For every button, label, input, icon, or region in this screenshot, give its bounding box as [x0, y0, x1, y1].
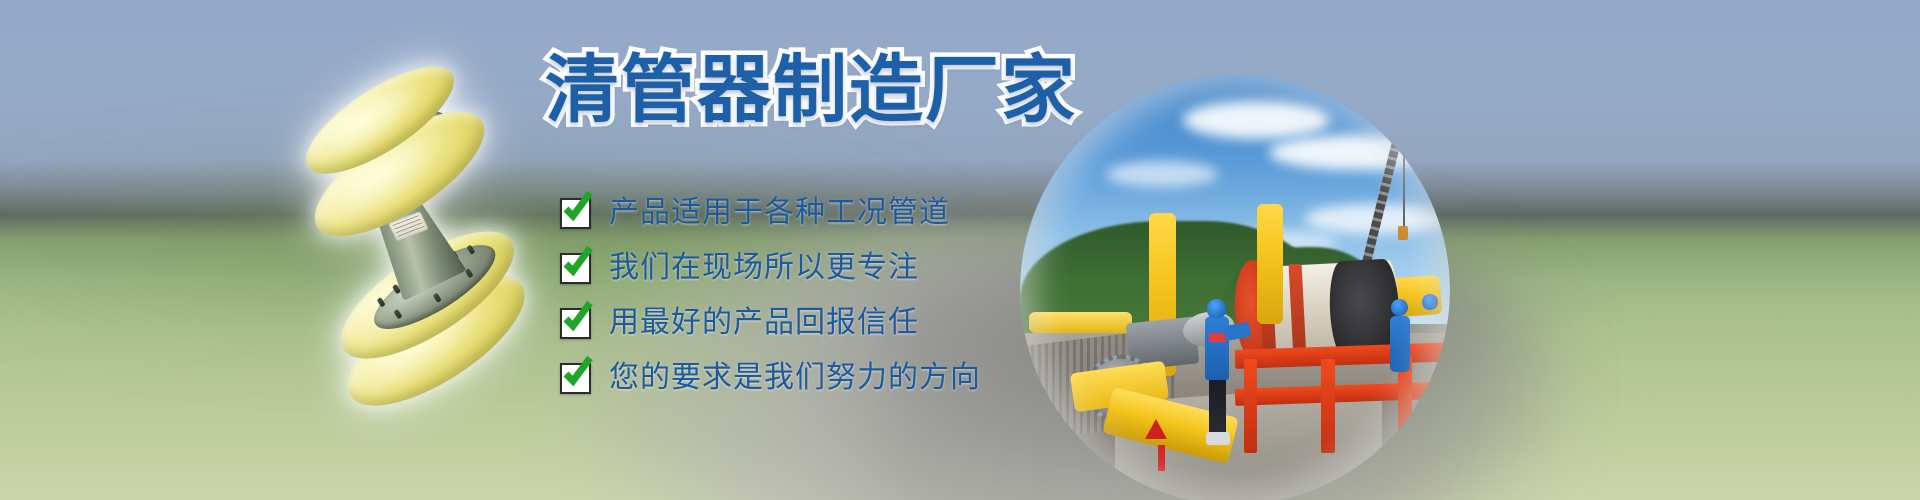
photo-soft-edge — [1020, 75, 1450, 500]
pipeline-station-photo — [1020, 75, 1450, 500]
list-item-label: 我们在现场所以更专注 — [609, 251, 919, 285]
list-item: 用最好的产品回报信任 — [560, 306, 981, 340]
list-item-label: 产品适用于各种工况管道 — [609, 196, 950, 230]
page-title: 清管器制造厂家 — [545, 48, 1077, 132]
feature-list: 产品适用于各种工况管道 我们在现场所以更专注 用最好的产品回报信任 — [560, 196, 981, 395]
check-icon — [560, 253, 591, 284]
list-item-label: 您的要求是我们努力的方向 — [609, 361, 981, 395]
pipeline-pig-product-photo — [250, 55, 550, 395]
list-item: 您的要求是我们努力的方向 — [560, 361, 981, 395]
check-icon — [560, 198, 591, 229]
list-item: 我们在现场所以更专注 — [560, 251, 981, 285]
check-icon — [560, 363, 591, 394]
list-item: 产品适用于各种工况管道 — [560, 196, 981, 230]
promo-banner: 清管器制造厂家 产品适用于各种工况管道 我们在现场所以更专注 — [0, 0, 1920, 500]
list-item-label: 用最好的产品回报信任 — [609, 306, 919, 340]
check-icon — [560, 308, 591, 339]
